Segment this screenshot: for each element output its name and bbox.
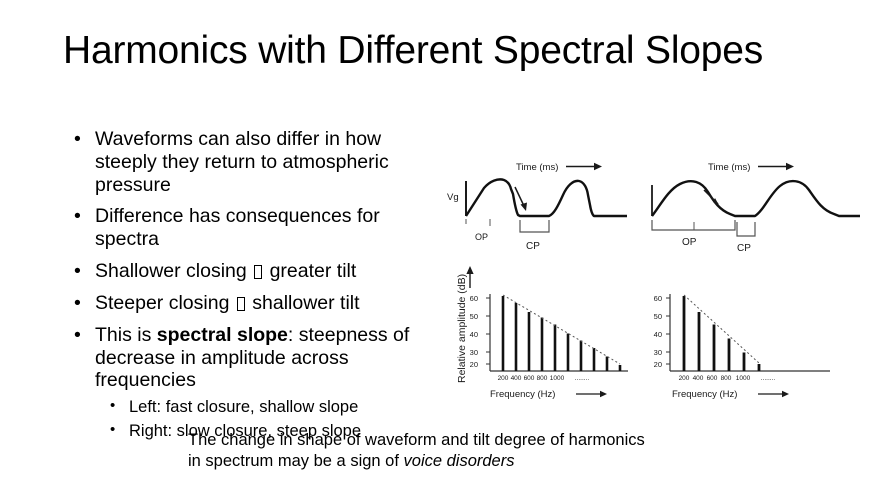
xtick-600: 600: [524, 375, 535, 382]
ytick-40: 40: [654, 330, 662, 339]
caption: The change in shape of waveform and tilt…: [188, 430, 658, 472]
spectrum-right-bars: [684, 296, 759, 371]
xtick-400: 400: [693, 375, 704, 382]
waveform-right-svg: Time (ms) OP CP: [638, 148, 864, 256]
xtick-1000: 1000: [736, 375, 751, 382]
xtick-ellipsis: ........: [575, 375, 590, 382]
spectrum-chart-shallow: Relative amplitude (dB) 60 50 40 30 20: [448, 258, 638, 403]
bullet-item-5: •This is spectral slope: steepness of de…: [64, 324, 444, 442]
waveform-left-y-label: Vg: [447, 192, 459, 203]
xtick-800: 800: [721, 375, 732, 382]
spectrum-right-xticks: 200 400 600 800 1000 ........: [679, 375, 776, 382]
sub-bullet-text: Left: fast closure, shallow slope: [129, 398, 358, 416]
bullet-dot-icon: •: [74, 128, 81, 151]
ytick-60: 60: [470, 294, 478, 303]
ytick-60: 60: [654, 294, 662, 303]
bullet-text-after: shallower tilt: [247, 292, 360, 314]
cp-bracket-icon: [737, 222, 755, 236]
bullet-item-4: •Steeper closing shallower tilt: [64, 292, 444, 315]
waveform-left-svg: Time (ms) Vg OP CP: [442, 148, 642, 256]
spectrum-left-xlabel: Frequency (Hz): [490, 389, 555, 400]
bullet-dot-icon: •: [74, 205, 81, 228]
bullet-text: Difference has consequences for spectra: [95, 205, 380, 250]
missing-glyph-box-icon: [254, 265, 262, 279]
bullet-item-3: •Shallower closing greater tilt: [64, 260, 444, 283]
waveform-left-cp-label: CP: [526, 241, 540, 252]
page-title: Harmonics with Different Spectral Slopes: [63, 26, 823, 76]
figure-group: Time (ms) Vg OP CP: [440, 148, 880, 413]
spectrum-right-xlabel: Frequency (Hz): [672, 389, 737, 400]
waveform-right-op-label: OP: [682, 237, 697, 248]
xtick-1000: 1000: [550, 375, 565, 382]
waveform-diagram-right: Time (ms) OP CP: [638, 148, 864, 256]
ytick-20: 20: [654, 360, 662, 369]
spectrum-right-yticks: 60 50 40 30 20: [654, 294, 670, 369]
spectrum-left-svg: Relative amplitude (dB) 60 50 40 30 20: [448, 258, 638, 403]
bullet-dot-icon: •: [74, 324, 81, 347]
ytick-30: 30: [654, 348, 662, 357]
bullet-text-before: This is: [95, 324, 157, 346]
ytick-50: 50: [654, 312, 662, 321]
bullet-text: Waveforms can also differ in how steeply…: [95, 128, 389, 196]
waveform-diagram-left: Time (ms) Vg OP CP: [442, 148, 642, 256]
xtick-ellipsis: ........: [761, 375, 776, 382]
cp-bracket-icon: [520, 220, 549, 232]
closing-slope-pointer-arrow-icon: [515, 187, 524, 206]
waveform-left-op-label: OP: [475, 232, 488, 242]
sub-bullet-item-left: •Left: fast closure, shallow slope: [95, 397, 444, 418]
missing-glyph-box-icon: [237, 297, 245, 311]
spectral-slope-trendline: [503, 295, 620, 364]
amplitude-arrow-head-icon: [466, 266, 473, 274]
spectrum-left-yticks: 60 50 40 30 20: [470, 294, 490, 369]
bullet-item-2: •Difference has consequences for spectra: [64, 205, 444, 251]
xtick-200: 200: [679, 375, 690, 382]
waveform-right-trace: [652, 181, 860, 216]
spectrum-left-ylabel: Relative amplitude (dB): [456, 274, 468, 383]
waveform-right-cp-label: CP: [737, 243, 751, 254]
spectrum-left-xticks: 200 400 600 800 1000 ........: [498, 375, 590, 382]
xtick-800: 800: [537, 375, 548, 382]
spectral-slope-trendline: [684, 295, 759, 363]
waveform-left-time-label: Time (ms): [516, 162, 558, 173]
frequency-arrow-head-icon: [782, 391, 789, 397]
ytick-20: 20: [470, 360, 478, 369]
frequency-arrow-head-icon: [600, 391, 607, 397]
slide: Harmonics with Different Spectral Slopes…: [0, 0, 880, 495]
waveform-right-time-label: Time (ms): [708, 162, 750, 173]
spectrum-right-svg: 60 50 40 30 20: [640, 258, 840, 403]
bullet-emphasis-spectral-slope: spectral slope: [157, 324, 288, 346]
bullet-item-1: •Waveforms can also differ in how steepl…: [64, 128, 444, 196]
bullet-text-before: Steeper closing: [95, 292, 235, 314]
bullet-dot-icon: •: [74, 260, 81, 283]
bullet-text-before: Shallower closing: [95, 260, 252, 282]
spectrum-chart-steep: 60 50 40 30 20: [640, 258, 840, 403]
xtick-600: 600: [707, 375, 718, 382]
time-arrow-head-icon: [594, 163, 602, 170]
xtick-400: 400: [511, 375, 522, 382]
ytick-50: 50: [470, 312, 478, 321]
waveform-left-trace: [466, 179, 627, 216]
xtick-200: 200: [498, 375, 509, 382]
bullet-dot-icon: •: [74, 292, 81, 315]
ytick-30: 30: [470, 348, 478, 357]
time-arrow-head-icon: [786, 163, 794, 170]
caption-emphasis-voice-disorders: voice disorders: [404, 452, 515, 470]
bullet-text-after: greater tilt: [264, 260, 356, 282]
spectrum-left-bars: [503, 296, 620, 371]
sub-bullet-dot-icon: •: [110, 420, 115, 440]
ytick-40: 40: [470, 330, 478, 339]
closing-slope-arrow-head-icon: [521, 203, 528, 212]
bullet-list: •Waveforms can also differ in how steepl…: [64, 128, 444, 451]
sub-bullet-dot-icon: •: [110, 396, 115, 416]
